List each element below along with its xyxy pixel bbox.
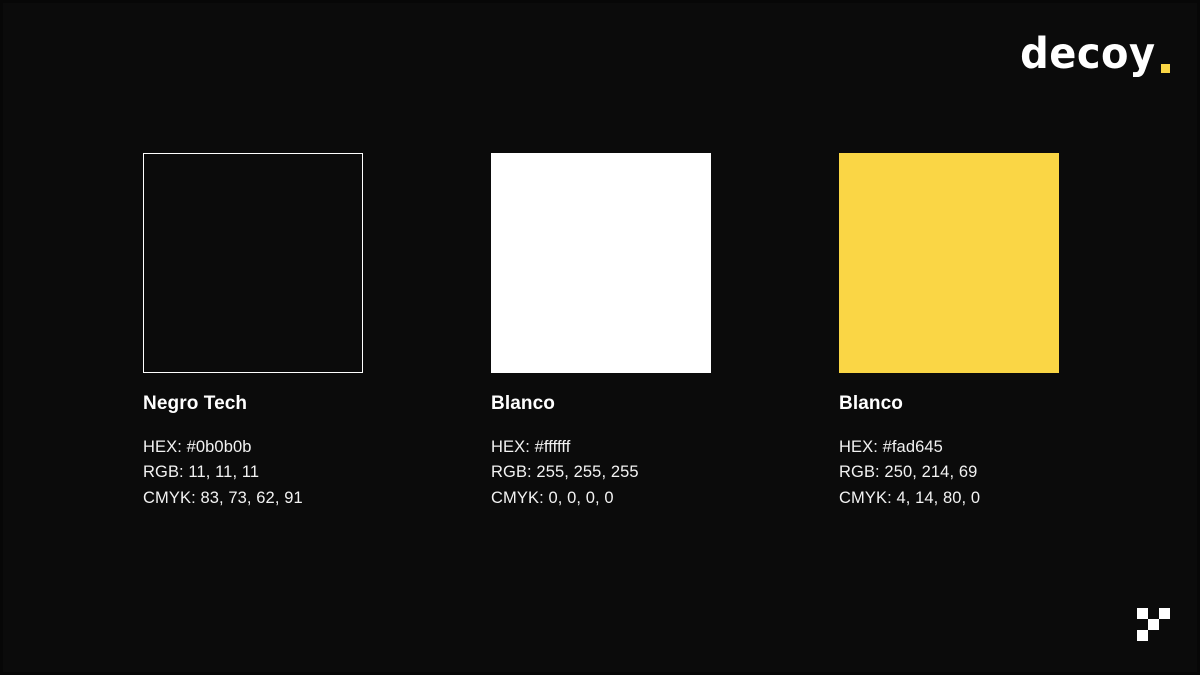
color-swatch-column: Blanco HEX: #fad645 RGB: 250, 214, 69 CM… [839,153,1059,511]
color-swatch-group: Negro Tech HEX: #0b0b0b RGB: 11, 11, 11 … [143,153,1059,511]
color-name: Blanco [839,393,1059,416]
pixel-cell [1148,608,1159,619]
color-cmyk-value: CMYK: 0, 0, 0, 0 [491,486,711,512]
brand-logo: decoy [1010,33,1170,76]
pixel-cell [1137,608,1148,619]
checkered-pixel-mark-icon [1137,608,1170,641]
color-hex-value: HEX: #ffffff [491,435,711,461]
pixel-cell [1159,619,1170,630]
color-palette-slide: decoy Negro Tech HEX: #0b0b0b RGB: 11, 1… [0,0,1200,675]
brand-logo-dot-icon [1161,64,1170,73]
color-hex-value: HEX: #fad645 [839,435,1059,461]
color-swatch-amarillo [839,153,1059,373]
pixel-cell [1137,619,1148,630]
pixel-cell [1148,630,1159,641]
color-cmyk-value: CMYK: 83, 73, 62, 91 [143,486,363,512]
pixel-cell [1148,619,1159,630]
color-swatch-column: Negro Tech HEX: #0b0b0b RGB: 11, 11, 11 … [143,153,363,511]
color-cmyk-value: CMYK: 4, 14, 80, 0 [839,486,1059,512]
color-rgb-value: RGB: 11, 11, 11 [143,460,363,486]
color-specs: HEX: #0b0b0b RGB: 11, 11, 11 CMYK: 83, 7… [143,435,363,512]
color-name: Negro Tech [143,393,363,416]
pixel-cell [1159,608,1170,619]
color-rgb-value: RGB: 255, 255, 255 [491,460,711,486]
brand-logo-wordmark: decoy [1021,33,1156,76]
color-specs: HEX: #fad645 RGB: 250, 214, 69 CMYK: 4, … [839,435,1059,512]
color-specs: HEX: #ffffff RGB: 255, 255, 255 CMYK: 0,… [491,435,711,512]
pixel-cell [1137,630,1148,641]
color-swatch-column: Blanco HEX: #ffffff RGB: 255, 255, 255 C… [491,153,711,511]
color-rgb-value: RGB: 250, 214, 69 [839,460,1059,486]
color-swatch-blanco [491,153,711,373]
color-name: Blanco [491,393,711,416]
color-hex-value: HEX: #0b0b0b [143,435,363,461]
pixel-cell [1159,630,1170,641]
color-swatch-negro-tech [143,153,363,373]
